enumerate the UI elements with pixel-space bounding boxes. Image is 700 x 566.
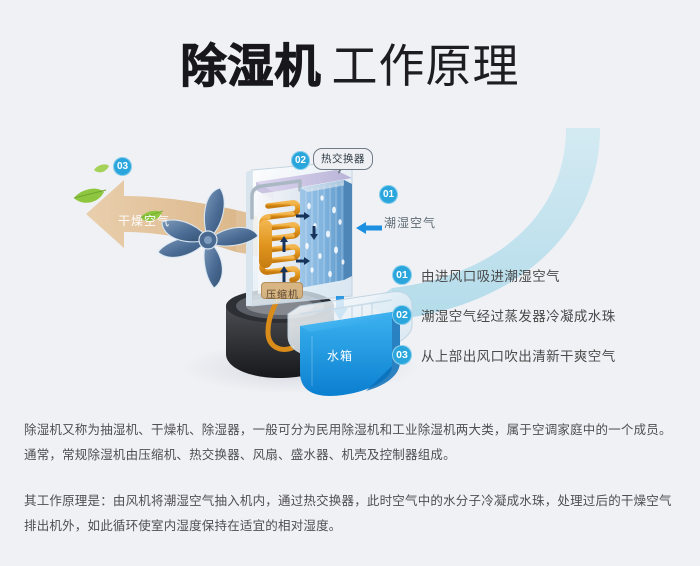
- humid-air-label: 潮湿空气: [384, 214, 436, 231]
- coil-block: [258, 188, 300, 294]
- description-block: 除湿机又称为抽湿机、干燥机、除湿器，一般可分为民用除湿机和工业除湿机两大类，属于…: [24, 418, 679, 539]
- legend-text-02: 潮湿空气经过蒸发器冷凝成水珠: [421, 305, 616, 325]
- dry-air-label: 干燥空气: [118, 212, 170, 229]
- heat-exchanger-callout: 热交换器: [313, 148, 373, 170]
- description-paragraph-1: 除湿机又称为抽湿机、干燥机、除湿器，一般可分为民用除湿机和工业除湿机两大类，属于…: [24, 418, 679, 468]
- legend-badge-01: 01: [392, 265, 412, 285]
- compressor-label: 压缩机: [266, 286, 299, 301]
- diagram-badge-02: 02: [291, 151, 310, 170]
- diagram-badge-01: 01: [379, 185, 398, 204]
- page-title-secondary: 工作原理: [332, 40, 520, 92]
- description-paragraph-2: 其工作原理是：由风机将潮湿空气抽入机内，通过热交换器，此时空气中的水分子冷凝成水…: [24, 489, 679, 539]
- accumulator-cylinder: [259, 220, 272, 268]
- intake-arrow: [356, 222, 382, 234]
- page-title-primary: 除湿机: [181, 40, 322, 92]
- legend-item: 01 由进风口吸进潮湿空气: [392, 255, 682, 295]
- water-tank-label: 水箱: [327, 347, 353, 364]
- legend-badge-03: 03: [392, 345, 412, 365]
- legend-item: 02 潮湿空气经过蒸发器冷凝成水珠: [392, 295, 682, 335]
- legend-badge-02: 02: [392, 305, 412, 325]
- diagram-badge-03: 03: [113, 157, 132, 176]
- page-title: 除湿机工作原理: [0, 30, 700, 96]
- legend-text-03: 从上部出风口吹出清新干爽空气: [421, 345, 616, 365]
- legend-list: 01 由进风口吸进潮湿空气 02 潮湿空气经过蒸发器冷凝成水珠 03 从上部出风…: [392, 255, 682, 375]
- legend-text-01: 由进风口吸进潮湿空气: [421, 265, 560, 285]
- legend-item: 03 从上部出风口吹出清新干爽空气: [392, 335, 682, 375]
